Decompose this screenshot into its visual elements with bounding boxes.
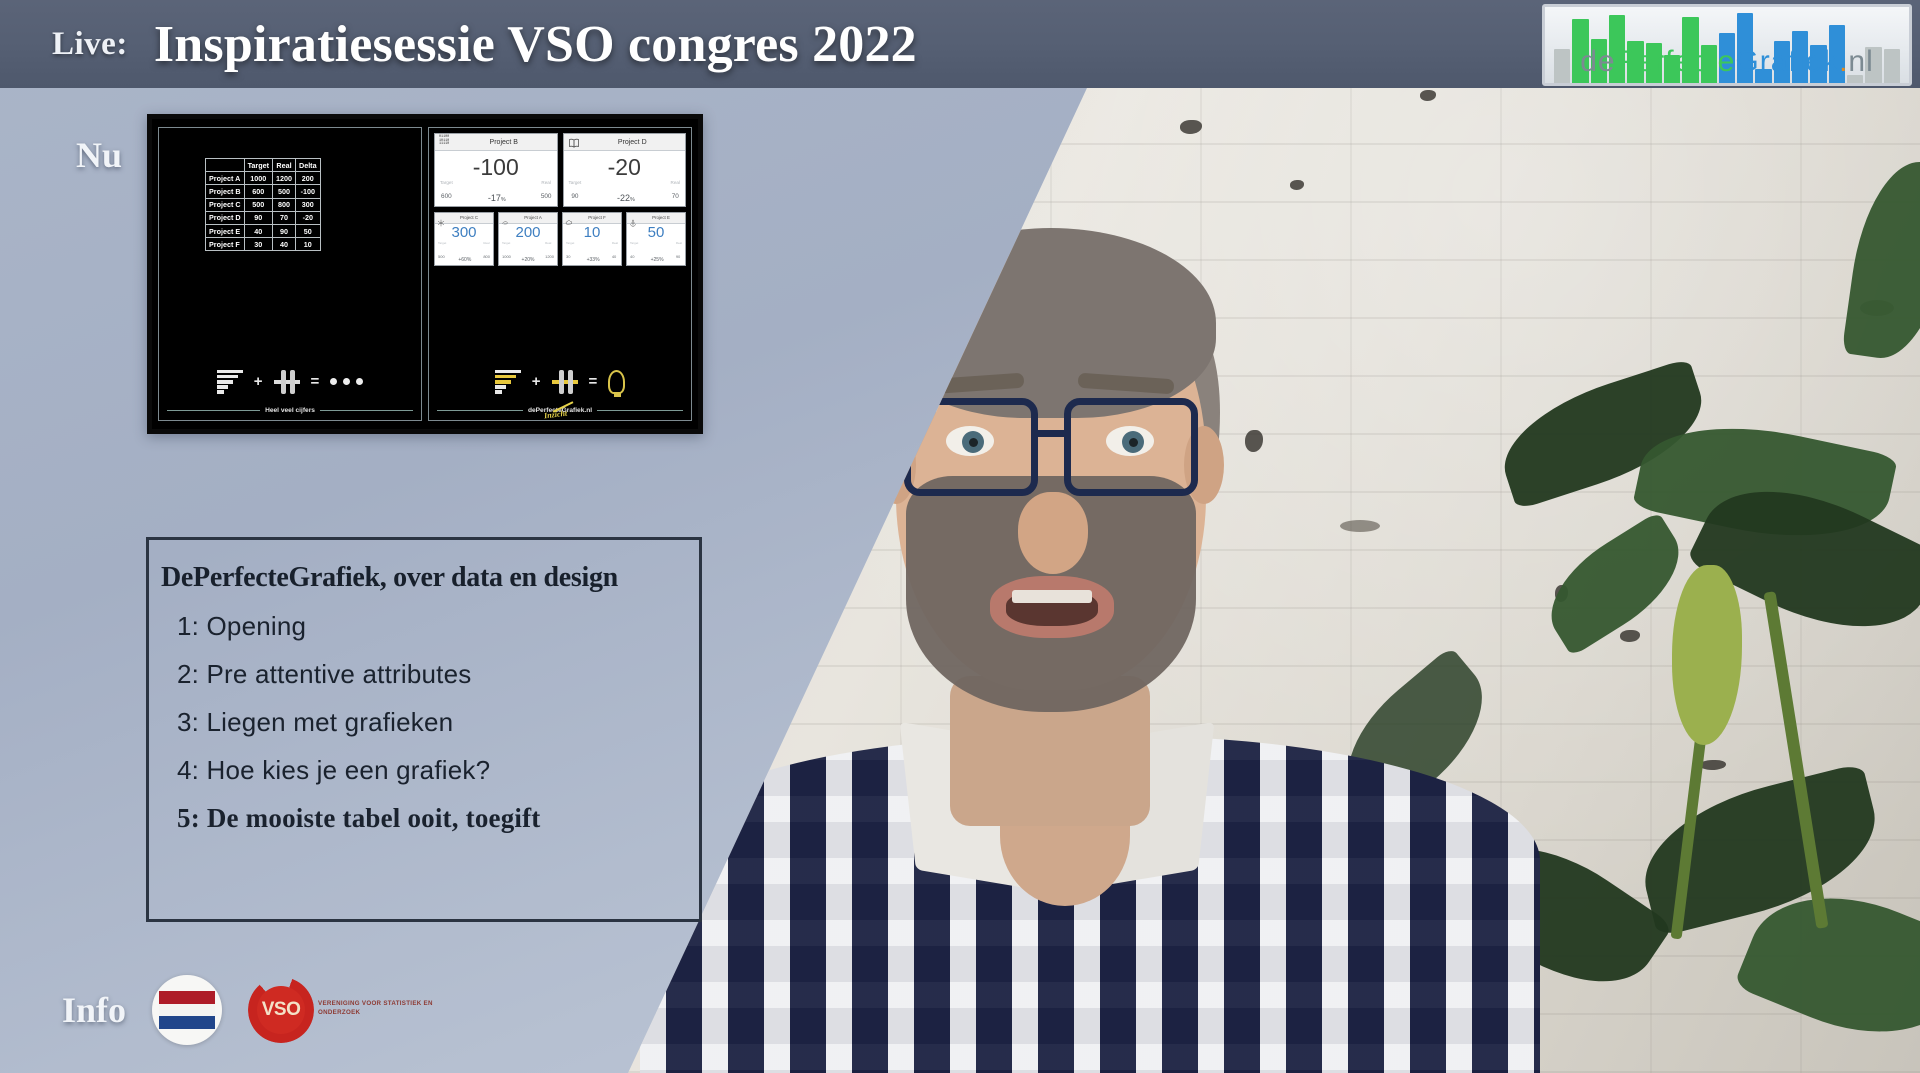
presenter-nose [1018, 492, 1088, 574]
projects-table: TargetRealDelta Project A10001200200Proj… [205, 158, 321, 251]
nu-label: Nu [76, 134, 122, 176]
kpi-card-small[interactable]: Project C300Target500+60%Real800 [434, 212, 494, 267]
table-header-row: TargetRealDelta [206, 159, 321, 172]
kpi-card-header: 011001011011110Project B [435, 134, 557, 151]
table-cell: 600 [244, 185, 272, 198]
hand-icon [501, 214, 509, 222]
kpi-real: Real800 [483, 241, 490, 263]
vso-logo[interactable]: VSO VERENIGING VOOR STATISTIEK EN ONDERZ… [248, 977, 314, 1043]
pins-icon [274, 370, 300, 394]
snowflake-icon [437, 214, 445, 222]
kpi-target: Target90 [569, 180, 582, 203]
table-cell: 300 [296, 198, 321, 211]
logo-letter: e [1718, 45, 1736, 79]
logo-text: dePerfecteGrafiek.nl [1545, 45, 1909, 79]
kpi-card-title: Project A [511, 215, 555, 220]
table-row-label: Project A [206, 172, 245, 185]
table-cell: 90 [273, 225, 296, 238]
table-column-header [206, 159, 245, 172]
logo-letter: r [1760, 45, 1771, 79]
netherlands-flag-icon[interactable] [152, 975, 222, 1045]
kpi-card-small[interactable]: Project E50Target40+25%Real90 [626, 212, 686, 267]
table-cell: 90 [244, 211, 272, 224]
slide-half-right: 011001011011110Project B-100Target600-17… [428, 127, 692, 421]
presenter-figure [700, 176, 1440, 1073]
table-cell: 800 [273, 198, 296, 211]
kpi-percent: -22% [617, 193, 635, 203]
equals-symbol: = [311, 373, 320, 390]
table-cell: 200 [296, 172, 321, 185]
plus-symbol: + [532, 373, 541, 390]
live-label: Live: [52, 26, 128, 63]
logo-letter: e [1675, 45, 1693, 79]
kpi-target: Target1000 [502, 241, 511, 263]
kpi-percent: +25% [651, 257, 664, 263]
logo-letter: n [1848, 45, 1866, 79]
kpi-card-small[interactable]: Project A200Target1000+20%Real1200 [498, 212, 558, 267]
kpi-card-footer: Target600-17%Real500 [435, 180, 557, 206]
logo-letter: f [1665, 45, 1674, 79]
table-cell: 40 [273, 238, 296, 251]
kpi-real: Real40 [612, 241, 618, 263]
dashboard-small-cards: Project C300Target500+60%Real800Project … [434, 212, 686, 267]
kpi-percent: +33% [587, 257, 600, 263]
kpi-card-title: Project B [455, 139, 553, 146]
kpi-target: Target600 [440, 180, 453, 203]
logo-letter: k [1823, 45, 1839, 79]
kpi-real: Real500 [541, 180, 552, 203]
vso-text: VSO [262, 999, 301, 1021]
flag-stripe [159, 1016, 215, 1029]
snowflake-icon [437, 219, 445, 227]
kpi-card-value: -100 [435, 151, 557, 180]
kpi-card-header: Project E [627, 213, 685, 224]
kpi-card[interactable]: 011001011011110Project B-100Target600-17… [434, 133, 558, 207]
logo-letter: e [1805, 45, 1823, 79]
logo-letter: f [1788, 45, 1797, 79]
table-column-header: Real [273, 159, 296, 172]
slide-preview[interactable]: TargetRealDelta Project A10001200200Proj… [147, 114, 703, 434]
logo-letter: i [1798, 45, 1806, 79]
glasses-bridge [1036, 430, 1068, 437]
kpi-percent: +60% [458, 257, 471, 263]
binary-icon: 011001011011110 [439, 136, 451, 148]
logo-letter: a [1771, 45, 1789, 79]
agenda-item-1[interactable]: 1: Opening [177, 594, 699, 642]
kpi-card-footer: Target40+25%Real90 [627, 241, 685, 265]
kpi-card-header: Project A [499, 213, 557, 224]
logo-letter: c [1692, 45, 1708, 79]
kpi-percent: +20% [522, 257, 535, 263]
binary-icon: 011001011011110 [439, 136, 451, 147]
caption-text: Heel veel cijfers [265, 407, 315, 414]
table-cell: 50 [296, 225, 321, 238]
agenda-item-4[interactable]: 4: Hoe kies je een grafiek? [177, 738, 699, 786]
slide-caption-right: dePerfecteGrafiek.nl Inzicht [437, 407, 683, 414]
slide-caption-left: Heel veel cijfers [167, 407, 413, 414]
logo-letter: t [1708, 45, 1717, 79]
cloud-icon [565, 214, 573, 222]
dots-icon [330, 378, 363, 385]
table-cell: 1000 [244, 172, 272, 185]
table-row: Project B600500-100 [206, 185, 321, 198]
kpi-real: Real90 [676, 241, 682, 263]
table-row: Project E409050 [206, 225, 321, 238]
table-cell: 30 [244, 238, 272, 251]
agenda-panel: DePerfecteGrafiek, over data en design 1… [146, 537, 702, 922]
kpi-card-header: Project D [564, 134, 686, 151]
agenda-item-3[interactable]: 3: Liegen met grafieken [177, 690, 699, 738]
kpi-target: Target30 [566, 241, 574, 263]
formula-row-left: + = [159, 370, 421, 394]
kpi-card-title: Project D [584, 139, 682, 146]
table-row: Project D9070-20 [206, 211, 321, 224]
table-cell: -20 [296, 211, 321, 224]
logo-letter: l [1866, 45, 1874, 79]
kpi-percent: -17% [488, 193, 506, 203]
kpi-card-footer: Target1000+20%Real1200 [499, 241, 557, 265]
kpi-card-value: -20 [564, 151, 686, 180]
lightbulb-icon [608, 370, 625, 394]
vso-disc: VSO [257, 986, 305, 1034]
anchor-icon [629, 219, 637, 227]
kpi-card-title: Project F [575, 215, 619, 220]
page-title: Inspiratiesessie VSO congres 2022 [154, 15, 917, 74]
table-row-label: Project F [206, 238, 245, 251]
table-cell: 40 [244, 225, 272, 238]
bar-chart-icon [217, 370, 243, 394]
table-cell: 500 [273, 185, 296, 198]
table-cell: 70 [273, 211, 296, 224]
kpi-card-header: Project F [563, 213, 621, 224]
glasses-lens-right [1064, 398, 1198, 496]
table-column-header: Delta [296, 159, 321, 172]
table-row-label: Project C [206, 198, 245, 211]
handwriting-note: Inzicht [544, 409, 568, 421]
table-row: Project F304010 [206, 238, 321, 251]
logo-letter: . [1839, 45, 1848, 79]
kpi-card-footer: Target500+60%Real800 [435, 241, 493, 265]
kpi-target: Target40 [630, 241, 638, 263]
book-icon [568, 137, 580, 149]
logo-letter: G [1735, 45, 1759, 79]
vso-subtitle: VERENIGING VOOR STATISTIEK EN ONDERZOEK [318, 999, 438, 1018]
logo-letter: e [1637, 45, 1655, 79]
plus-symbol: + [254, 373, 263, 390]
table-cell: 1200 [273, 172, 296, 185]
equals-symbol: = [589, 373, 598, 390]
kpi-card-title: Project E [639, 215, 683, 220]
book-icon [568, 136, 580, 148]
cloud-icon [565, 219, 573, 227]
logo-letter: P [1616, 45, 1637, 79]
anchor-icon [629, 214, 637, 222]
flag-stripe [159, 991, 215, 1004]
info-footer: Info VSO VERENIGING VOOR STATISTIEK EN O… [62, 975, 314, 1045]
agenda-title: DePerfecteGrafiek, over data en design [161, 562, 699, 594]
kpi-card-header: Project C [435, 213, 493, 224]
brand-logo[interactable]: dePerfecteGrafiek.nl [1542, 4, 1912, 86]
table-row: Project A10001200200 [206, 172, 321, 185]
table-column-header: Target [244, 159, 272, 172]
kpi-target: Target500 [438, 241, 446, 263]
logo-letter: r [1654, 45, 1665, 79]
bar-chart-highlight-icon [495, 370, 521, 394]
slide-half-left: TargetRealDelta Project A10001200200Proj… [158, 127, 422, 421]
agenda-item-2[interactable]: 2: Pre attentive attributes [177, 642, 699, 690]
kpi-card-footer: Target30+33%Real40 [563, 241, 621, 265]
kpi-real: Real70 [671, 180, 680, 203]
agenda-list: 1: Opening2: Pre attentive attributes3: … [149, 594, 699, 834]
kpi-real: Real1200 [545, 241, 554, 263]
flag-stripe [159, 1004, 215, 1017]
formula-row-right: + = [429, 370, 691, 394]
presenter-teeth [1012, 590, 1092, 603]
kpi-card-small[interactable]: Project F10Target30+33%Real40 [562, 212, 622, 267]
kpi-card[interactable]: Project D-20Target90-22%Real70 [563, 133, 687, 207]
dashboard-big-cards: 011001011011110Project B-100Target600-17… [434, 133, 686, 207]
table-cell: -100 [296, 185, 321, 198]
logo-letter: de [1580, 45, 1615, 79]
table-row: Project C500800300 [206, 198, 321, 211]
table-cell: 500 [244, 198, 272, 211]
dashboard: 011001011011110Project B-100Target600-17… [434, 133, 686, 266]
glasses-lens-left [904, 398, 1038, 496]
kpi-card-title: Project C [447, 215, 491, 220]
pins-highlight-icon [552, 370, 578, 394]
table-row-label: Project E [206, 225, 245, 238]
kpi-card-footer: Target90-22%Real70 [564, 180, 686, 206]
table-row-label: Project D [206, 211, 245, 224]
hand-icon [501, 219, 509, 227]
table-row-label: Project B [206, 185, 245, 198]
agenda-item-5[interactable]: 5: De mooiste tabel ooit, toegift [177, 786, 699, 834]
info-label: Info [62, 989, 126, 1031]
table-cell: 10 [296, 238, 321, 251]
